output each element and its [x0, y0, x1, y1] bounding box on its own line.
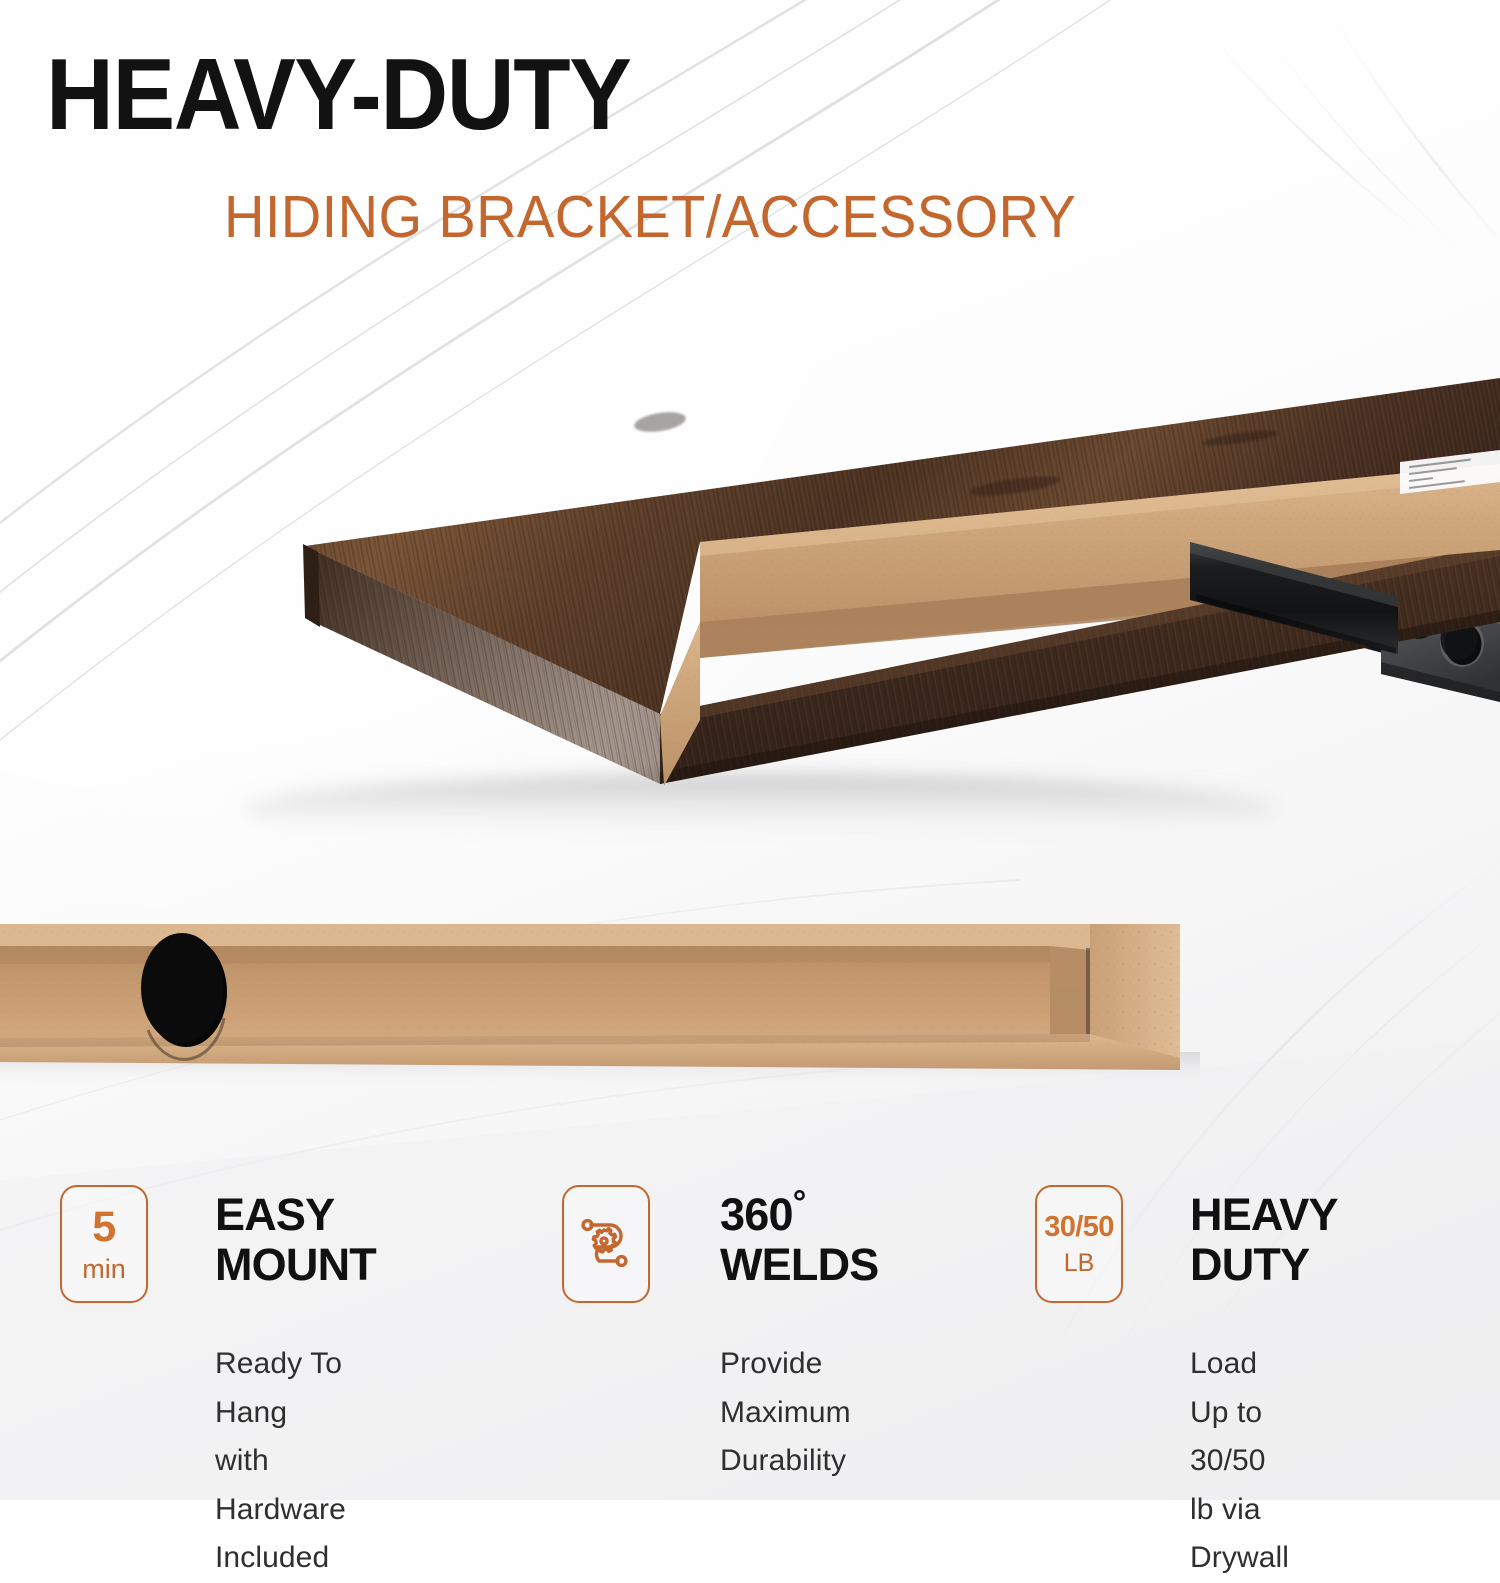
page-title: HEAVY-DUTY [46, 46, 630, 145]
feature-desc-heavy-duty: Load Up to 30/50 lb via Drywall [1190, 1340, 1289, 1583]
page-subtitle: HIDING BRACKET/ACCESSORY [224, 188, 1076, 247]
feature-title-welds: WELDS [720, 1239, 879, 1290]
feature-highlights-row: 5 min EASY MOUNT Ready To Hang with Hard… [0, 1180, 1500, 1470]
feature-desc-360-welds: Provide Maximum Durability [720, 1340, 851, 1486]
shelf-shadow [240, 774, 1280, 846]
feature-title-360: 360 [720, 1189, 793, 1240]
feature-title-easy-mount: EASY MOUNT [215, 1190, 376, 1291]
badge-weld-icon-box [562, 1185, 650, 1303]
badge-unit: LB [1064, 1251, 1095, 1276]
feature-title-heavy-duty: HEAVY DUTY [1190, 1190, 1338, 1291]
badge-5-min: 5 min [60, 1185, 148, 1303]
feature-title-360-welds: 360°WELDS [720, 1190, 879, 1291]
badge-value: 5 [92, 1206, 115, 1249]
badge-30-50-lb: 30/50 LB [1035, 1185, 1123, 1303]
crosssection-product-image [0, 880, 1500, 1110]
badge-value: 30/50 [1044, 1213, 1114, 1242]
shelf-left-end-cap [303, 544, 320, 627]
hero-product-image [0, 250, 1500, 870]
weld-path-gear-icon [577, 1213, 635, 1276]
feature-desc-easy-mount: Ready To Hang with Hardware Included [215, 1340, 346, 1583]
degree-symbol: ° [793, 1184, 806, 1222]
badge-unit: min [82, 1256, 126, 1283]
mdf-channel-end-wall [1050, 946, 1090, 1038]
